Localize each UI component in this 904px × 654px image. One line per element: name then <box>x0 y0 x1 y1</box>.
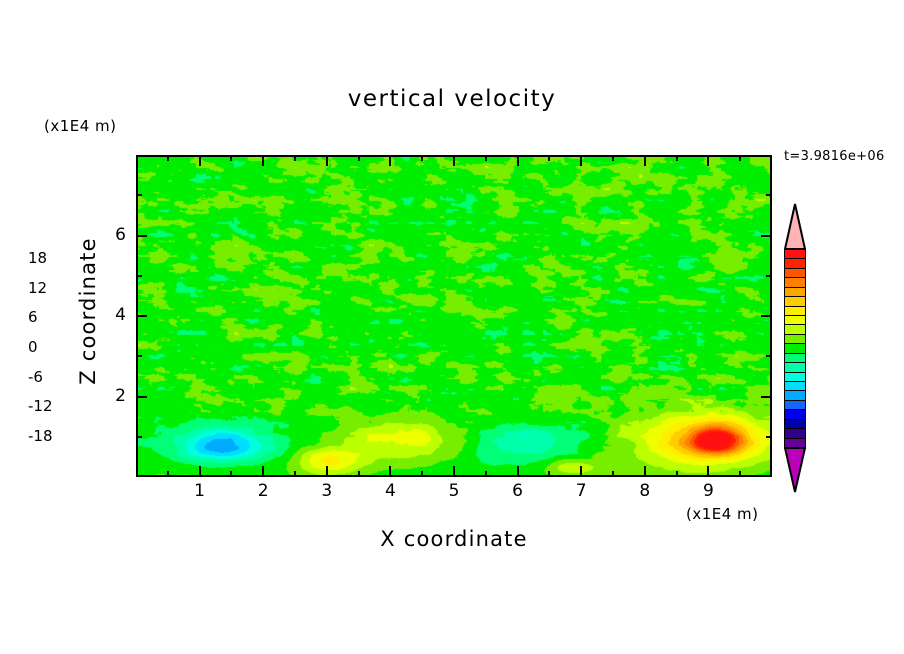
x-tick-major <box>262 466 264 477</box>
y-tick-major <box>136 396 147 398</box>
x-tick-major <box>517 466 519 477</box>
y-tick-label: 4 <box>96 305 126 325</box>
x-tick-major <box>326 466 328 477</box>
x-tick-minor <box>294 471 296 477</box>
x-tick-minor-top <box>358 155 360 161</box>
colorbar-tick-label: 0 <box>28 338 38 356</box>
x-tick-label: 4 <box>370 481 410 501</box>
timestamp-label: t=3.9816e+06 <box>784 149 885 164</box>
colorbar-over-range-tip <box>784 203 806 249</box>
y-tick-major-right <box>761 315 772 317</box>
x-tick-label: 9 <box>688 481 728 501</box>
y-tick-major <box>136 315 147 317</box>
x-tick-minor <box>548 471 550 477</box>
x-tick-major-top <box>326 155 328 166</box>
colorbar-tick-label: -12 <box>28 397 53 415</box>
x-tick-minor <box>230 471 232 477</box>
colorbar-under-range-tip <box>784 447 806 493</box>
x-axis-title: X coordinate <box>136 527 772 551</box>
x-tick-minor-top <box>612 155 614 161</box>
x-tick-major <box>199 466 201 477</box>
y-tick-major <box>136 235 147 237</box>
x-tick-major-top <box>580 155 582 166</box>
y-tick-major-right <box>761 396 772 398</box>
contour-field <box>138 157 772 477</box>
x-tick-major <box>453 466 455 477</box>
x-tick-minor <box>612 471 614 477</box>
x-tick-major <box>644 466 646 477</box>
x-tick-minor-top <box>294 155 296 161</box>
x-tick-major <box>389 466 391 477</box>
x-tick-minor-top <box>739 155 741 161</box>
x-tick-major-top <box>517 155 519 166</box>
x-tick-minor <box>421 471 423 477</box>
x-tick-minor-top <box>485 155 487 161</box>
x-tick-major <box>707 466 709 477</box>
x-tick-minor <box>739 471 741 477</box>
x-tick-major <box>580 466 582 477</box>
x-tick-major-top <box>199 155 201 166</box>
y-tick-minor-right <box>766 275 772 277</box>
x-tick-minor <box>167 471 169 477</box>
y-tick-major-right <box>761 235 772 237</box>
colorbar-tick-label: 12 <box>28 279 47 297</box>
chart-title: vertical velocity <box>0 86 904 112</box>
x-axis-units-label: (x1E4 m) <box>686 505 759 523</box>
y-tick-minor <box>136 194 142 196</box>
x-tick-minor <box>485 471 487 477</box>
z-axis-units-label: (x1E4 m) <box>44 117 117 135</box>
x-tick-minor-top <box>421 155 423 161</box>
x-tick-label: 8 <box>625 481 665 501</box>
x-tick-label: 5 <box>434 481 474 501</box>
x-tick-label: 2 <box>243 481 283 501</box>
x-tick-major-top <box>389 155 391 166</box>
x-tick-label: 7 <box>561 481 601 501</box>
colorbar-tick-label: -18 <box>28 427 53 445</box>
y-tick-minor-right <box>766 194 772 196</box>
y-tick-minor <box>136 275 142 277</box>
y-tick-label: 2 <box>96 386 126 406</box>
colorbar-tick-label: 18 <box>28 249 47 267</box>
colorbar-tick-label: 6 <box>28 308 38 326</box>
y-tick-label: 6 <box>96 225 126 245</box>
x-tick-minor <box>676 471 678 477</box>
x-tick-minor-top <box>167 155 169 161</box>
x-tick-minor-top <box>548 155 550 161</box>
colorbar-tick-label: -6 <box>28 368 43 386</box>
x-tick-minor <box>358 471 360 477</box>
y-tick-minor-right <box>766 436 772 438</box>
x-tick-minor-top <box>230 155 232 161</box>
x-tick-major-top <box>453 155 455 166</box>
chart-canvas: vertical velocity (x1E4 m) (x1E4 m) t=3.… <box>0 0 904 654</box>
x-tick-label: 6 <box>498 481 538 501</box>
x-tick-label: 3 <box>307 481 347 501</box>
x-tick-minor-top <box>676 155 678 161</box>
colorbar <box>784 203 806 493</box>
x-tick-major-top <box>707 155 709 166</box>
contour-plot-area <box>136 155 772 477</box>
x-tick-major-top <box>644 155 646 166</box>
y-tick-minor <box>136 355 142 357</box>
x-tick-major-top <box>262 155 264 166</box>
y-tick-minor <box>136 436 142 438</box>
x-tick-label: 1 <box>180 481 220 501</box>
y-tick-minor-right <box>766 355 772 357</box>
